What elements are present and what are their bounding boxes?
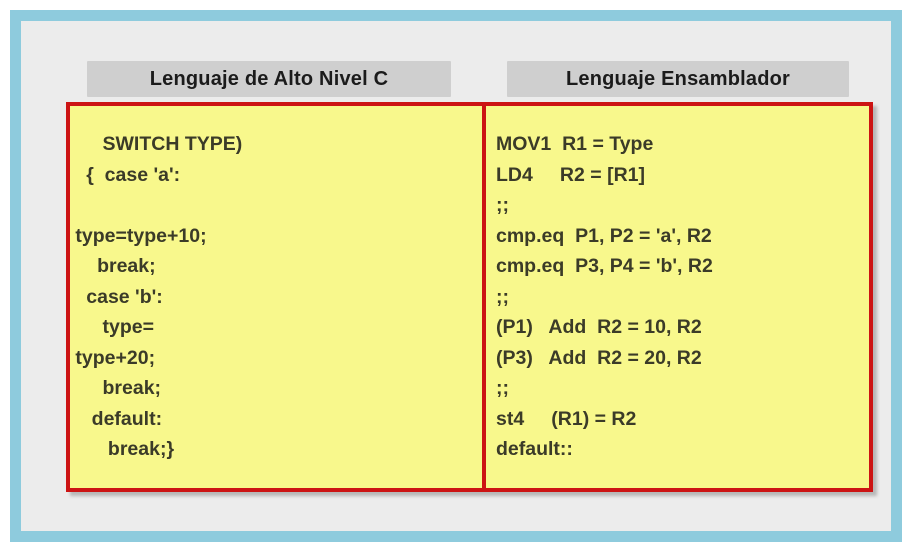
c-code-line: default: — [70, 404, 482, 435]
c-code-line: break; — [70, 373, 482, 404]
assembly-code-line: cmp.eq P1, P2 = 'a', R2 — [486, 221, 869, 252]
assembly-code-line: LD4 R2 = [R1] — [486, 160, 869, 191]
c-code-line: { case 'a': — [70, 160, 482, 191]
c-code-line: case 'b': — [70, 282, 482, 313]
c-code-line: break; — [70, 251, 482, 282]
c-code-line — [70, 190, 482, 221]
c-code-line: break;} — [70, 434, 482, 465]
gray-background-panel: Lenguaje de Alto Nivel C Lenguaje Ensamb… — [21, 21, 891, 531]
c-code-line: type= — [70, 312, 482, 343]
caption-plate-c-language: Lenguaje de Alto Nivel C — [87, 61, 451, 97]
assembly-code-line: ;; — [486, 373, 869, 404]
assembly-code-line: st4 (R1) = R2 — [486, 404, 869, 435]
caption-plate-assembly-language: Lenguaje Ensamblador — [507, 61, 849, 97]
assembly-code-line: default:: — [486, 434, 869, 465]
figure-root: Lenguaje de Alto Nivel C Lenguaje Ensamb… — [0, 0, 912, 552]
assembly-code-line: ;; — [486, 282, 869, 313]
c-code-line: type+20; — [70, 343, 482, 374]
assembly-code-line: ;; — [486, 190, 869, 221]
assembly-code-line: cmp.eq P3, P4 = 'b', R2 — [486, 251, 869, 282]
assembly-code-line: MOV1 R1 = Type — [486, 129, 869, 160]
assembly-code-line: (P1) Add R2 = 10, R2 — [486, 312, 869, 343]
code-comparison-frame: SWITCH TYPE) { case 'a': type=type+10; b… — [66, 102, 873, 492]
c-code-line: type=type+10; — [70, 221, 482, 252]
c-code-line: SWITCH TYPE) — [70, 129, 482, 160]
assembly-code-line: (P3) Add R2 = 20, R2 — [486, 343, 869, 374]
blue-outer-frame: Lenguaje de Alto Nivel C Lenguaje Ensamb… — [10, 10, 902, 542]
code-column-c: SWITCH TYPE) { case 'a': type=type+10; b… — [70, 106, 486, 488]
code-column-assembly: MOV1 R1 = TypeLD4 R2 = [R1];;cmp.eq P1, … — [486, 106, 869, 488]
